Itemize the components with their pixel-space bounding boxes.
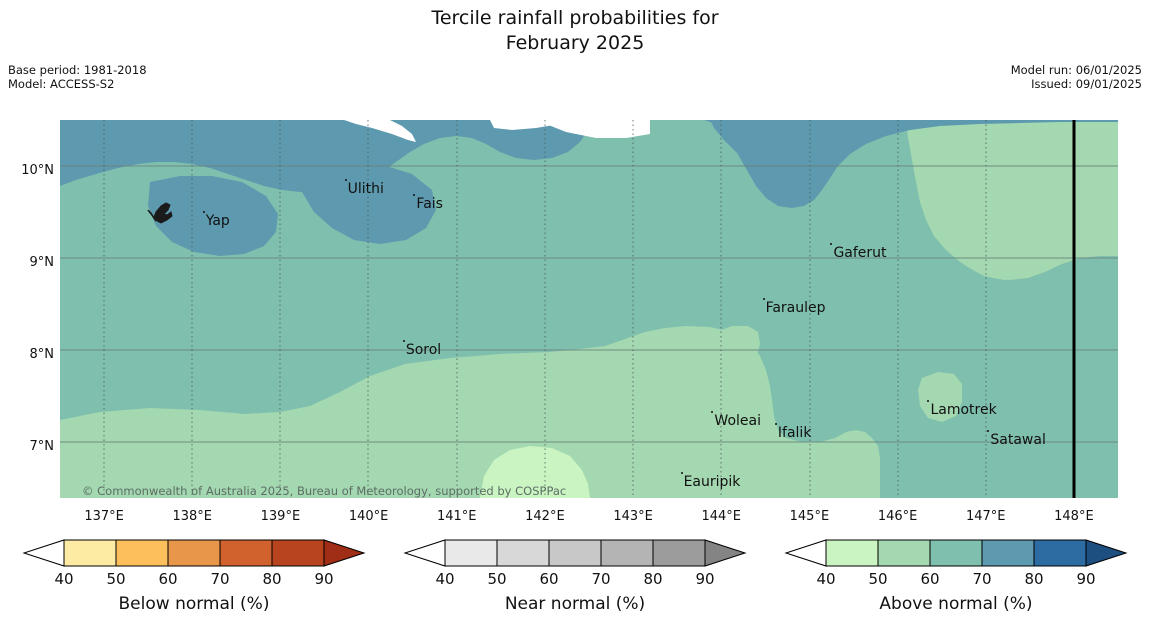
colorbar-near-normal-tick-90: 90	[685, 570, 725, 588]
x-axis-tick-6: 143°E	[598, 509, 668, 524]
x-axis-tick-8: 145°E	[774, 509, 844, 524]
y-axis-tick-1: 9°N	[4, 255, 54, 270]
colorbar-near-normal-tick-60: 60	[529, 570, 569, 588]
x-axis-tick-3: 140°E	[334, 509, 404, 524]
colorbar-below-normal-tick-50: 50	[96, 570, 136, 588]
colorbar-near-normal-tick-70: 70	[581, 570, 621, 588]
place-marker-gaferut	[830, 243, 832, 245]
place-label-gaferut: Gaferut	[833, 245, 886, 261]
model-run-text: Model run: 06/01/2025	[1011, 63, 1142, 77]
colorbar-above-normal-tick-40: 40	[806, 570, 846, 588]
colorbar-above-normal-over-arrow	[1086, 540, 1126, 566]
x-axis-tick-10: 147°E	[951, 509, 1021, 524]
colorbar-above-normal-swatch-1	[878, 540, 930, 566]
colorbar-above-normal-swatch-2	[930, 540, 982, 566]
place-marker-sorol	[403, 340, 405, 342]
colorbar-above-normal-swatch-0	[826, 540, 878, 566]
place-label-woleai: Woleai	[714, 413, 761, 429]
title-line-1: Tercile rainfall probabilities for	[0, 6, 1150, 31]
place-marker-faraulep	[763, 298, 765, 300]
place-label-lamotrek: Lamotrek	[930, 402, 996, 418]
issued-date-text: Issued: 09/01/2025	[1011, 77, 1142, 91]
x-axis-tick-5: 142°E	[510, 509, 580, 524]
colorbar-near-normal-swatch-3	[601, 540, 653, 566]
colorbar-below-normal-under-arrow	[24, 540, 64, 566]
colorbar-above-normal-tick-50: 50	[858, 570, 898, 588]
colorbar-below-normal-swatch-4	[272, 540, 324, 566]
place-marker-woleai	[711, 411, 713, 413]
base-period-text: Base period: 1981-2018	[8, 63, 147, 77]
place-label-overlay: UlithiFaisYapGaferutFaraulepSorolWoleaiI…	[60, 120, 1118, 498]
place-marker-yap	[203, 211, 205, 213]
colorbar-near-normal-tick-50: 50	[477, 570, 517, 588]
colorbar-above-normal-swatch-4	[1034, 540, 1086, 566]
title-line-2: February 2025	[0, 31, 1150, 56]
model-metadata-right: Model run: 06/01/2025 Issued: 09/01/2025	[1011, 63, 1142, 91]
colorbar-near-normal-swatch-4	[653, 540, 705, 566]
colorbar-above-normal-tick-60: 60	[910, 570, 950, 588]
model-name-text: Model: ACCESS-S2	[8, 77, 147, 91]
place-marker-fais	[413, 194, 415, 196]
colorbar-below-normal-caption: Below normal (%)	[14, 594, 374, 614]
place-marker-eauripik	[681, 472, 683, 474]
x-axis-tick-1: 138°E	[157, 509, 227, 524]
model-metadata-left: Base period: 1981-2018 Model: ACCESS-S2	[8, 63, 147, 91]
colorbar-below-normal-tick-60: 60	[148, 570, 188, 588]
x-axis-tick-9: 146°E	[863, 509, 933, 524]
colorbar-below-normal-tick-80: 80	[252, 570, 292, 588]
colorbar-above-normal-tick-70: 70	[962, 570, 1002, 588]
colorbar-above-normal-swatch-3	[982, 540, 1034, 566]
place-marker-ulithi	[345, 179, 347, 181]
colorbar-near-normal[interactable]: 405060708090 Near normal (%)	[395, 536, 755, 576]
colorbar-near-normal-over-arrow	[705, 540, 745, 566]
colorbar-near-normal-swatch-0	[445, 540, 497, 566]
place-marker-satawal	[987, 430, 989, 432]
colorbar-below-normal[interactable]: 405060708090 Below normal (%)	[14, 536, 374, 576]
y-axis-tick-2: 8°N	[4, 347, 54, 362]
copyright-notice: © Commonwealth of Australia 2025, Bureau…	[82, 484, 566, 498]
colorbar-near-normal-tick-80: 80	[633, 570, 673, 588]
place-label-sorol: Sorol	[406, 342, 441, 358]
place-marker-lamotrek	[927, 400, 929, 402]
x-axis-tick-0: 137°E	[69, 509, 139, 524]
place-label-satawal: Satawal	[990, 432, 1045, 448]
place-label-faraulep: Faraulep	[766, 300, 826, 316]
place-label-eauripik: Eauripik	[684, 474, 741, 490]
colorbar-near-normal-caption: Near normal (%)	[395, 594, 755, 614]
colorbar-near-normal-tick-40: 40	[425, 570, 465, 588]
colorbar-below-normal-over-arrow	[324, 540, 364, 566]
colorbar-near-normal-ticks: 405060708090	[395, 570, 755, 592]
colorbar-near-normal-swatch-1	[497, 540, 549, 566]
y-axis-tick-3: 7°N	[4, 439, 54, 454]
probability-map[interactable]: UlithiFaisYapGaferutFaraulepSorolWoleaiI…	[60, 120, 1118, 498]
colorbar-above-normal-tick-90: 90	[1066, 570, 1106, 588]
x-axis-tick-2: 139°E	[245, 509, 315, 524]
colorbar-above-normal-under-arrow	[786, 540, 826, 566]
x-axis-tick-4: 141°E	[422, 509, 492, 524]
colorbar-above-normal[interactable]: 405060708090 Above normal (%)	[776, 536, 1136, 576]
x-axis-tick-11: 148°E	[1039, 509, 1109, 524]
colorbar-below-normal-swatches	[14, 536, 374, 572]
colorbar-near-normal-swatches	[395, 536, 755, 572]
colorbar-below-normal-ticks: 405060708090	[14, 570, 374, 592]
colorbar-below-normal-swatch-3	[220, 540, 272, 566]
place-marker-ifalik	[775, 423, 777, 425]
y-axis-tick-0: 10°N	[4, 163, 54, 178]
x-axis-tick-7: 144°E	[686, 509, 756, 524]
colorbar-below-normal-tick-40: 40	[44, 570, 84, 588]
colorbar-above-normal-swatches	[776, 536, 1136, 572]
colorbar-below-normal-tick-70: 70	[200, 570, 240, 588]
place-label-fais: Fais	[416, 196, 443, 212]
colorbar-near-normal-swatch-2	[549, 540, 601, 566]
colorbar-above-normal-tick-80: 80	[1014, 570, 1054, 588]
place-label-ulithi: Ulithi	[348, 181, 384, 197]
place-label-yap: Yap	[206, 213, 230, 229]
colorbar-below-normal-tick-90: 90	[304, 570, 344, 588]
colorbar-above-normal-caption: Above normal (%)	[776, 594, 1136, 614]
colorbar-near-normal-under-arrow	[405, 540, 445, 566]
page-title: Tercile rainfall probabilities for Febru…	[0, 6, 1150, 56]
colorbar-below-normal-swatch-1	[116, 540, 168, 566]
colorbar-above-normal-ticks: 405060708090	[776, 570, 1136, 592]
colorbar-below-normal-swatch-2	[168, 540, 220, 566]
place-label-ifalik: Ifalik	[778, 425, 812, 441]
colorbar-below-normal-swatch-0	[64, 540, 116, 566]
